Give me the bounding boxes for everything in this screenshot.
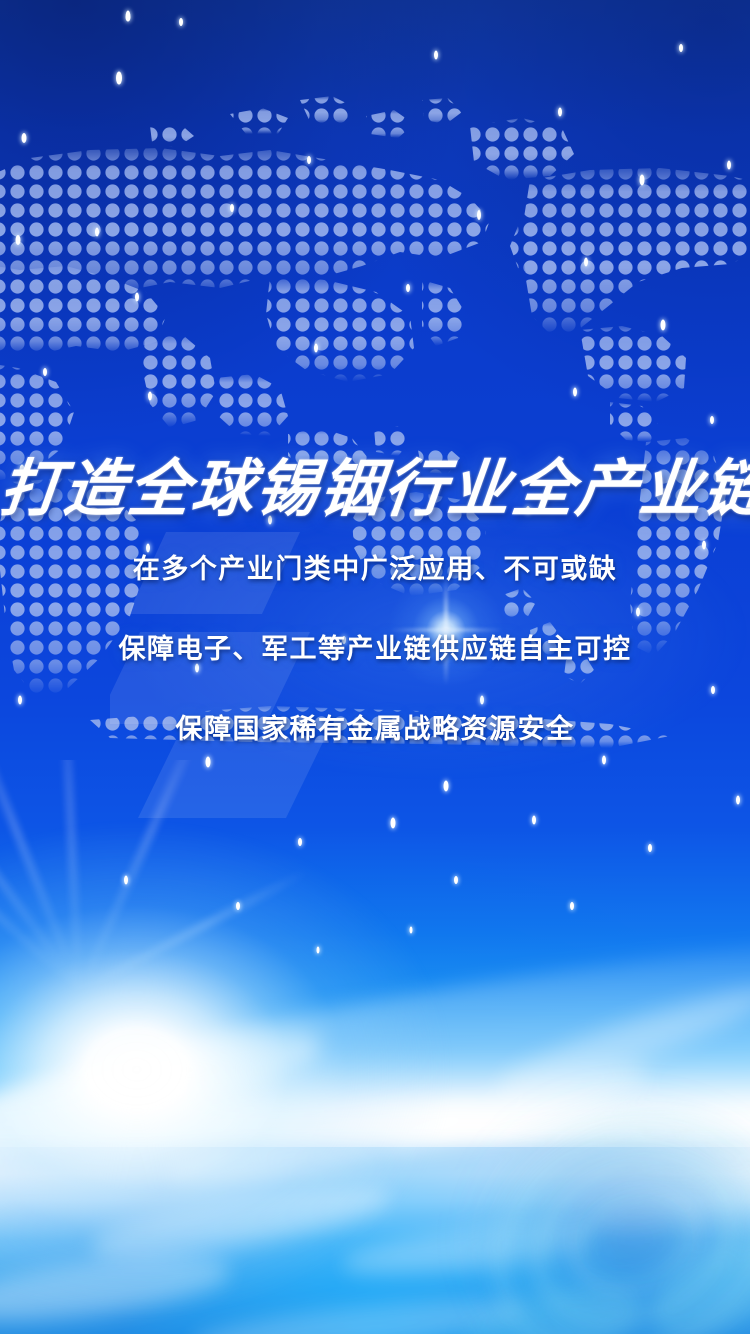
page-title: 打造全球锡铟行业全产业链链主: [0, 456, 750, 521]
subtitle-list: 在多个产业门类中广泛应用、不可或缺 保障电子、军工等产业链供应链自主可控 保障国…: [0, 556, 750, 796]
poster-content: 打造全球锡铟行业全产业链链主 在多个产业门类中广泛应用、不可或缺 保障电子、军工…: [0, 0, 750, 1334]
subtitle-line-3: 保障国家稀有金属战略资源安全: [0, 716, 750, 796]
subtitle-line-1: 在多个产业门类中广泛应用、不可或缺: [0, 556, 750, 636]
subtitle-line-2: 保障电子、军工等产业链供应链自主可控: [0, 636, 750, 716]
promo-poster: 打造全球锡铟行业全产业链链主 在多个产业门类中广泛应用、不可或缺 保障电子、军工…: [0, 0, 750, 1334]
